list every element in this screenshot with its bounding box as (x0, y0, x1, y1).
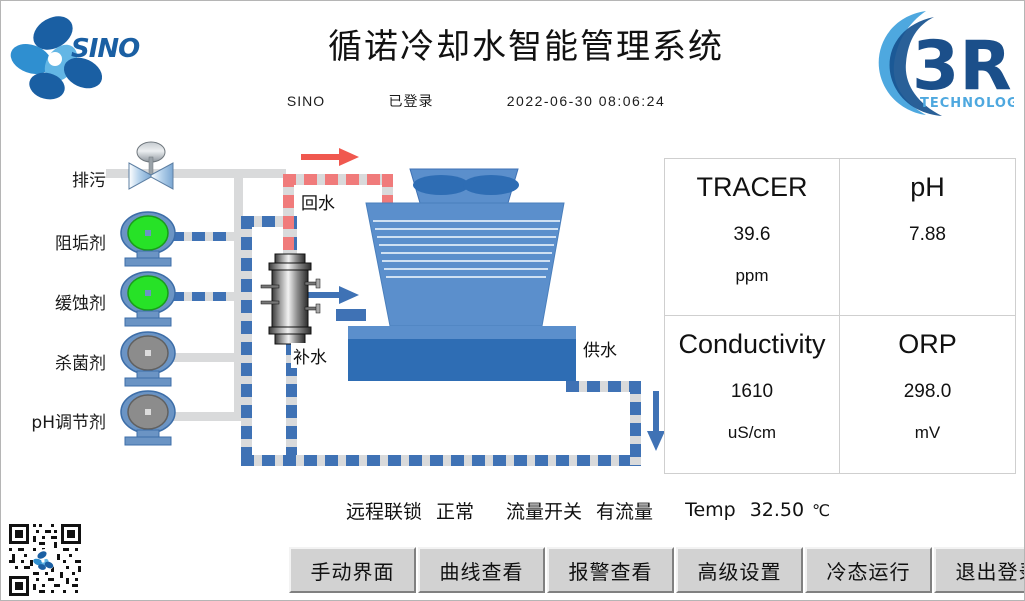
chem-label-ph-adjuster: pH调节剂 (0, 408, 106, 433)
pump-ph-adjuster[interactable] (117, 390, 179, 446)
button-bar: 手动界面 曲线查看 报警查看 高级设置 冷态运行 退出登录 (289, 547, 1025, 593)
blowdown-valve-icon[interactable] (119, 141, 183, 193)
manual-interface-button[interactable]: 手动界面 (289, 547, 416, 593)
chem-label-blowdown: 排污 (6, 166, 106, 191)
pipe-loop-left (241, 216, 252, 466)
flow-switch-label: 流量开关 (506, 497, 582, 524)
metric-conductivity: Conductivity 1610 uS/cm (665, 316, 840, 473)
cooling-tower-icon (336, 151, 646, 411)
qr-code[interactable] (6, 521, 84, 599)
pump-corrosion-inhibitor[interactable] (117, 271, 179, 327)
pipe-scale-inhibitor (171, 232, 243, 241)
curve-view-button[interactable]: 曲线查看 (418, 547, 545, 593)
cold-start-button[interactable]: 冷态运行 (805, 547, 932, 593)
metric-tracer-name: TRACER (696, 173, 807, 203)
chem-label-scale-inhibitor: 阻垢剂 (6, 229, 106, 254)
threeR-logo: 3R TECHNOLOGY (864, 3, 1014, 119)
pump-biocide[interactable] (117, 331, 179, 387)
metric-ph: pH 7.88 (840, 159, 1015, 316)
pipe-loop-bottom (241, 455, 641, 466)
pipe-ph (171, 412, 241, 421)
temp-unit: ℃ (812, 501, 830, 520)
metric-conductivity-value: 1610 (731, 381, 773, 403)
temp-value: 32.50 (750, 499, 804, 521)
metric-conductivity-unit: uS/cm (728, 423, 776, 443)
pump-scale-inhibitor[interactable] (117, 211, 179, 267)
sino-logo: SINO (9, 11, 149, 103)
remote-interlock-value: 正常 (436, 497, 474, 524)
metric-ph-name: pH (910, 173, 945, 203)
flow-label-makeup: 补水 (291, 343, 329, 368)
pipe-biocide (171, 353, 241, 362)
header-user: SINO (256, 93, 356, 109)
threeR-wordmark: 3R (912, 27, 1012, 106)
metric-tracer-unit: ppm (735, 266, 768, 286)
pipe-corrosion-inhibitor (171, 292, 243, 301)
chem-label-biocide: 杀菌剂 (6, 349, 106, 374)
scada-main-screen: SINO 循诺冷却水智能管理系统 SINO 已登录 2022-06-30 08:… (0, 0, 1025, 601)
metric-tracer: TRACER 39.6 ppm (665, 159, 840, 316)
chem-label-corrosion-inhibitor: 缓蚀剂 (6, 289, 106, 314)
flow-label-return: 回水 (299, 189, 337, 214)
metric-conductivity-name: Conductivity (678, 330, 825, 360)
header-status-line: SINO 已登录 2022-06-30 08:06:24 (256, 89, 816, 113)
flow-switch-value: 有流量 (596, 497, 653, 524)
process-diagram: 排污 阻垢剂 缓蚀剂 杀菌剂 pH调节剂 (1, 121, 661, 486)
page-title: 循诺冷却水智能管理系统 (256, 19, 796, 68)
advanced-settings-button[interactable]: 高级设置 (676, 547, 803, 593)
remote-interlock-label: 远程联锁 (346, 497, 422, 524)
metric-orp: ORP 298.0 mV (840, 316, 1015, 473)
flow-label-supply: 供水 (581, 336, 619, 361)
heat-exchanger-icon[interactable] (259, 249, 323, 349)
measurement-panel: TRACER 39.6 ppm pH 7.88 Conductivity 161… (664, 158, 1016, 474)
alarm-view-button[interactable]: 报警查看 (547, 547, 674, 593)
metric-tracer-value: 39.6 (734, 224, 771, 246)
metric-orp-name: ORP (898, 330, 957, 360)
metric-orp-unit: mV (915, 423, 941, 443)
header-datetime: 2022-06-30 08:06:24 (466, 93, 706, 109)
status-strip: 远程联锁 正常 流量开关 有流量 Temp 32.50 ℃ (346, 495, 1006, 525)
temp-label: Temp (685, 499, 736, 521)
header-login-state: 已登录 (356, 91, 466, 111)
metric-orp-value: 298.0 (904, 381, 952, 403)
logout-button[interactable]: 退出登录 (934, 547, 1025, 593)
sino-wordmark: SINO (71, 34, 140, 64)
metric-ph-value: 7.88 (909, 224, 946, 246)
threeR-tagline: TECHNOLOGY (920, 96, 1014, 111)
